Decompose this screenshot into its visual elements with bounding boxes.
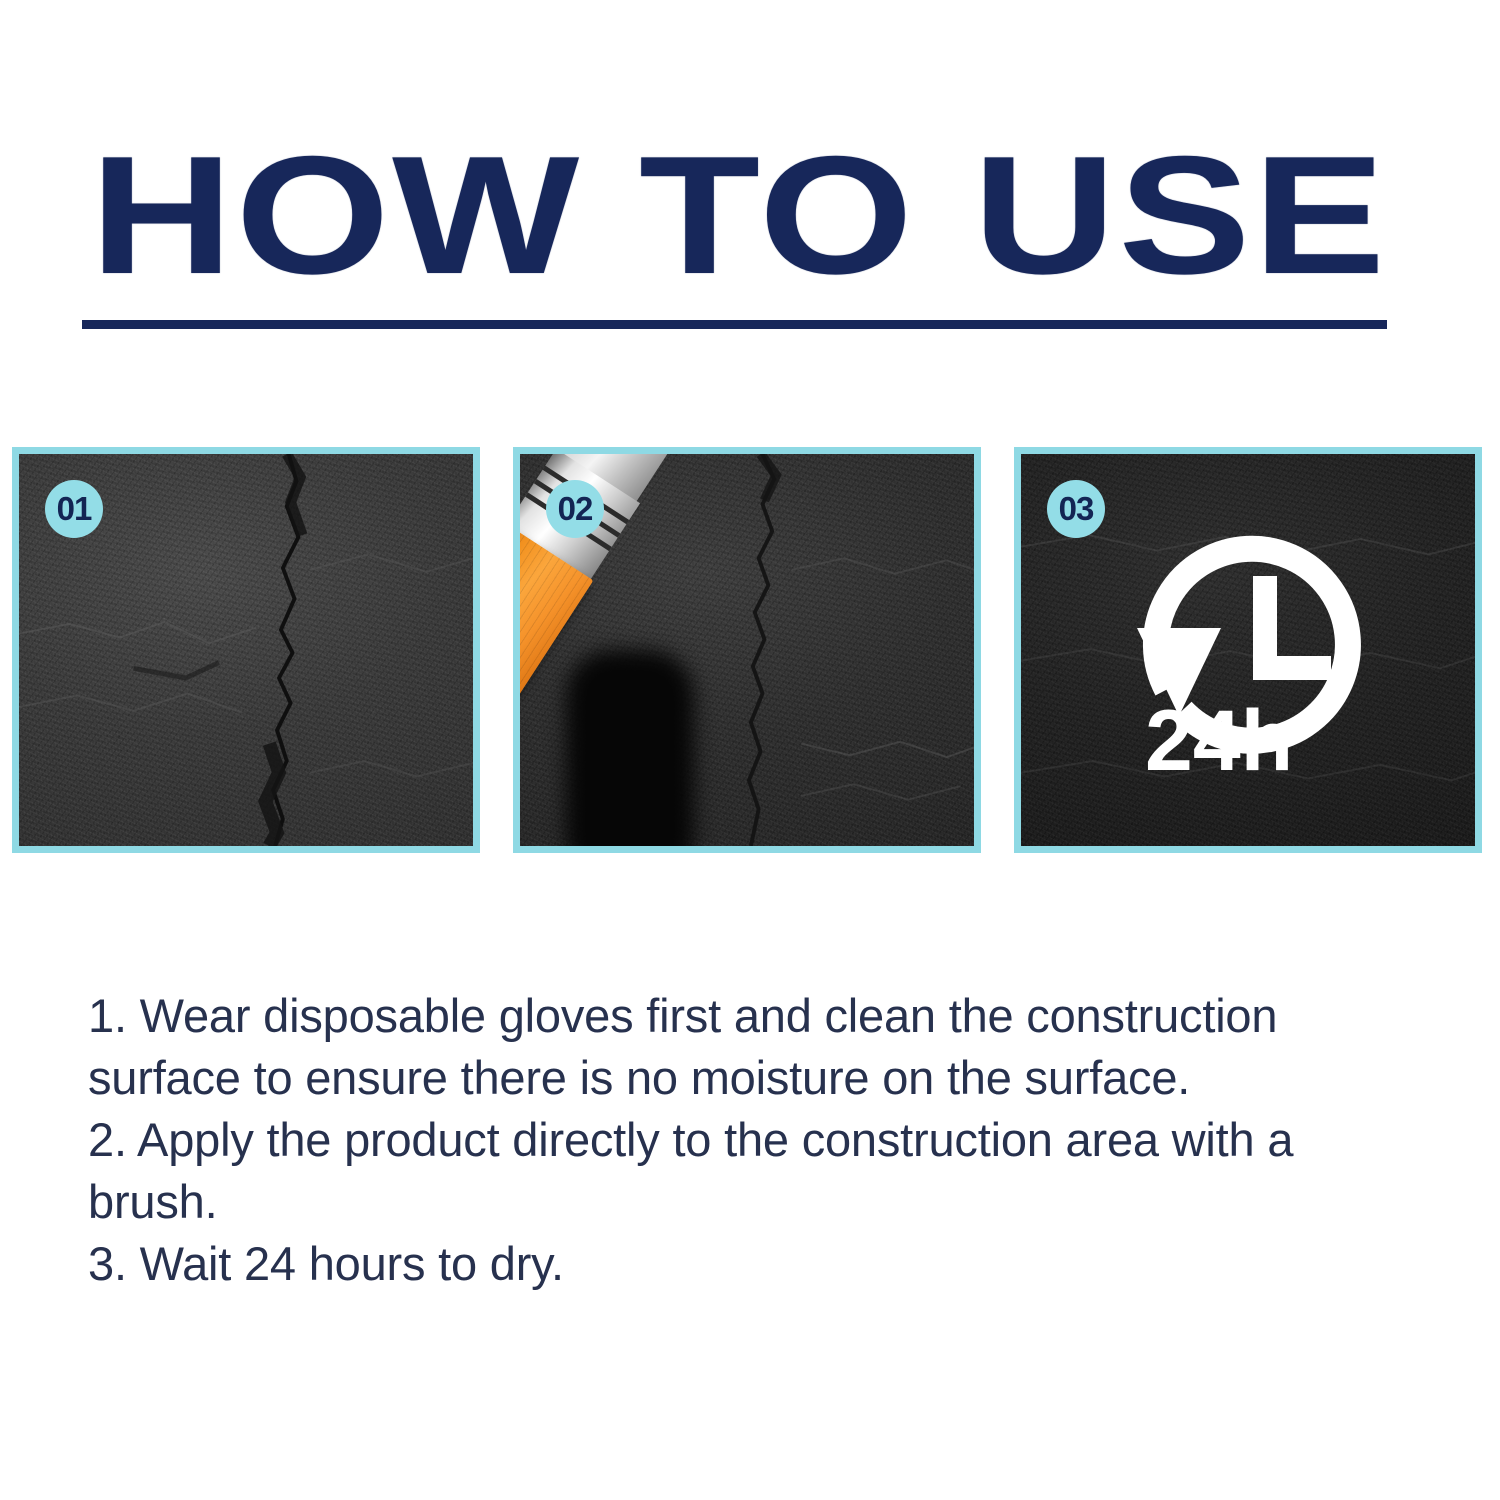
- title-block: HOW TO USE: [90, 140, 1400, 290]
- step-panel-01: 01: [12, 447, 480, 853]
- instruction-line-3: 3. Wait 24 hours to dry.: [88, 1233, 1428, 1295]
- step-badge-03: 03: [1047, 480, 1105, 538]
- step-panel-03: 24h 03: [1014, 447, 1482, 853]
- clock-24h-icon: 24h: [1119, 502, 1415, 798]
- step-panel-02: 02: [513, 447, 981, 853]
- page-title: HOW TO USE: [90, 140, 1500, 290]
- step-panel-row: 01 02: [12, 447, 1482, 853]
- clock-icon-label: 24h: [1145, 693, 1293, 789]
- step-badge-02: 02: [546, 480, 604, 538]
- title-divider: [82, 320, 1387, 329]
- how-to-use-infographic: HOW TO USE 01: [0, 0, 1500, 1500]
- instruction-line-2: 2. Apply the product directly to the con…: [88, 1109, 1428, 1233]
- step-badge-01: 01: [45, 480, 103, 538]
- instructions-list: 1. Wear disposable gloves first and clea…: [88, 985, 1428, 1295]
- instruction-line-1: 1. Wear disposable gloves first and clea…: [88, 985, 1428, 1109]
